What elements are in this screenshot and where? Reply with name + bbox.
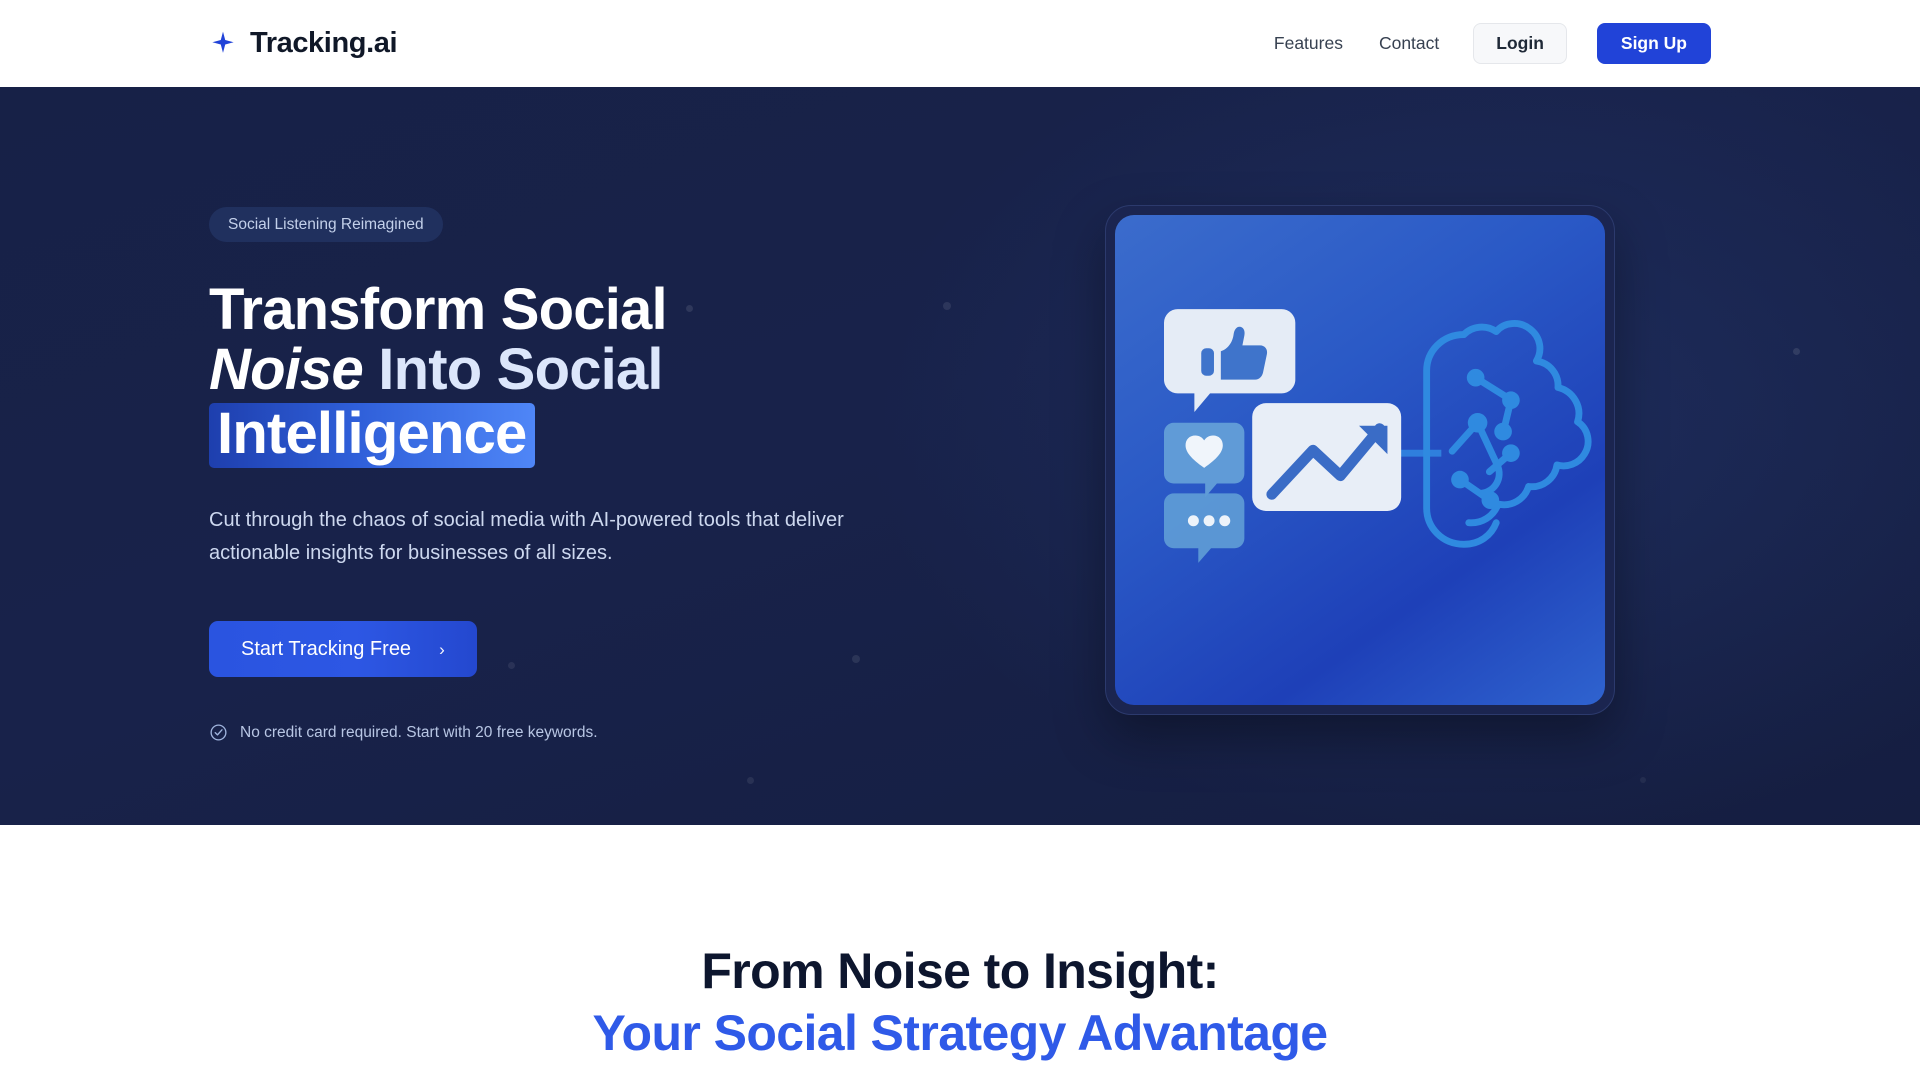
chevron-right-icon: › — [439, 641, 445, 658]
comment-dots-bubble-icon — [1164, 493, 1244, 563]
thumbs-up-bubble-icon — [1164, 309, 1295, 412]
top-navigation-bar: Tracking.ai Features Contact Login Sign … — [0, 0, 1920, 87]
section-heading: From Noise to Insight: Your Social Strat… — [0, 943, 1920, 1061]
social-ai-analytics-illustration — [1115, 215, 1605, 705]
headline-emphasis-noise: Noise — [209, 337, 363, 402]
hero-badge: Social Listening Reimagined — [209, 207, 443, 242]
hero-copy-column: Social Listening Reimagined Transform So… — [209, 87, 1009, 742]
section-heading-line-2: Your Social Strategy Advantage — [0, 1005, 1920, 1061]
illustration-frame — [1105, 205, 1615, 715]
trust-note: No credit card required. Start with 20 f… — [209, 723, 1009, 742]
heart-bubble-icon — [1164, 423, 1244, 497]
brand-logo[interactable]: Tracking.ai — [209, 29, 397, 58]
brand-name: Tracking.ai — [250, 29, 397, 58]
start-tracking-free-button[interactable]: Start Tracking Free › — [209, 621, 477, 677]
nav-link-contact[interactable]: Contact — [1361, 35, 1457, 53]
headline-highlight-intelligence: Intelligence — [209, 403, 535, 469]
signup-button[interactable]: Sign Up — [1597, 23, 1711, 64]
hero-headline: Transform Social Noise Into Social Intel… — [209, 280, 1009, 468]
nav-link-features[interactable]: Features — [1256, 35, 1361, 53]
trending-up-chart-card — [1252, 403, 1401, 511]
headline-line-2: Noise Into Social — [209, 340, 1009, 400]
value-proposition-section: From Noise to Insight: Your Social Strat… — [0, 825, 1920, 1061]
hero-subtitle: Cut through the chaos of social media wi… — [209, 504, 881, 569]
section-heading-line-1: From Noise to Insight: — [701, 943, 1218, 999]
cta-label: Start Tracking Free — [241, 639, 411, 659]
headline-line-3: Intelligence — [209, 400, 1009, 469]
headline-line-2-rest: Into Social — [378, 337, 662, 402]
hero-illustration-column — [1009, 87, 1711, 715]
illustration-panel — [1115, 215, 1605, 705]
hero-section: Social Listening Reimagined Transform So… — [0, 87, 1920, 825]
trust-note-text: No credit card required. Start with 20 f… — [240, 725, 598, 741]
headline-line-1: Transform Social — [209, 280, 1009, 340]
ai-brain-circuit-icon — [1427, 323, 1588, 544]
check-circle-icon — [209, 723, 228, 742]
sparkle-star-icon — [209, 30, 237, 58]
login-button[interactable]: Login — [1473, 23, 1567, 64]
primary-nav: Features Contact Login Sign Up — [1256, 23, 1711, 64]
